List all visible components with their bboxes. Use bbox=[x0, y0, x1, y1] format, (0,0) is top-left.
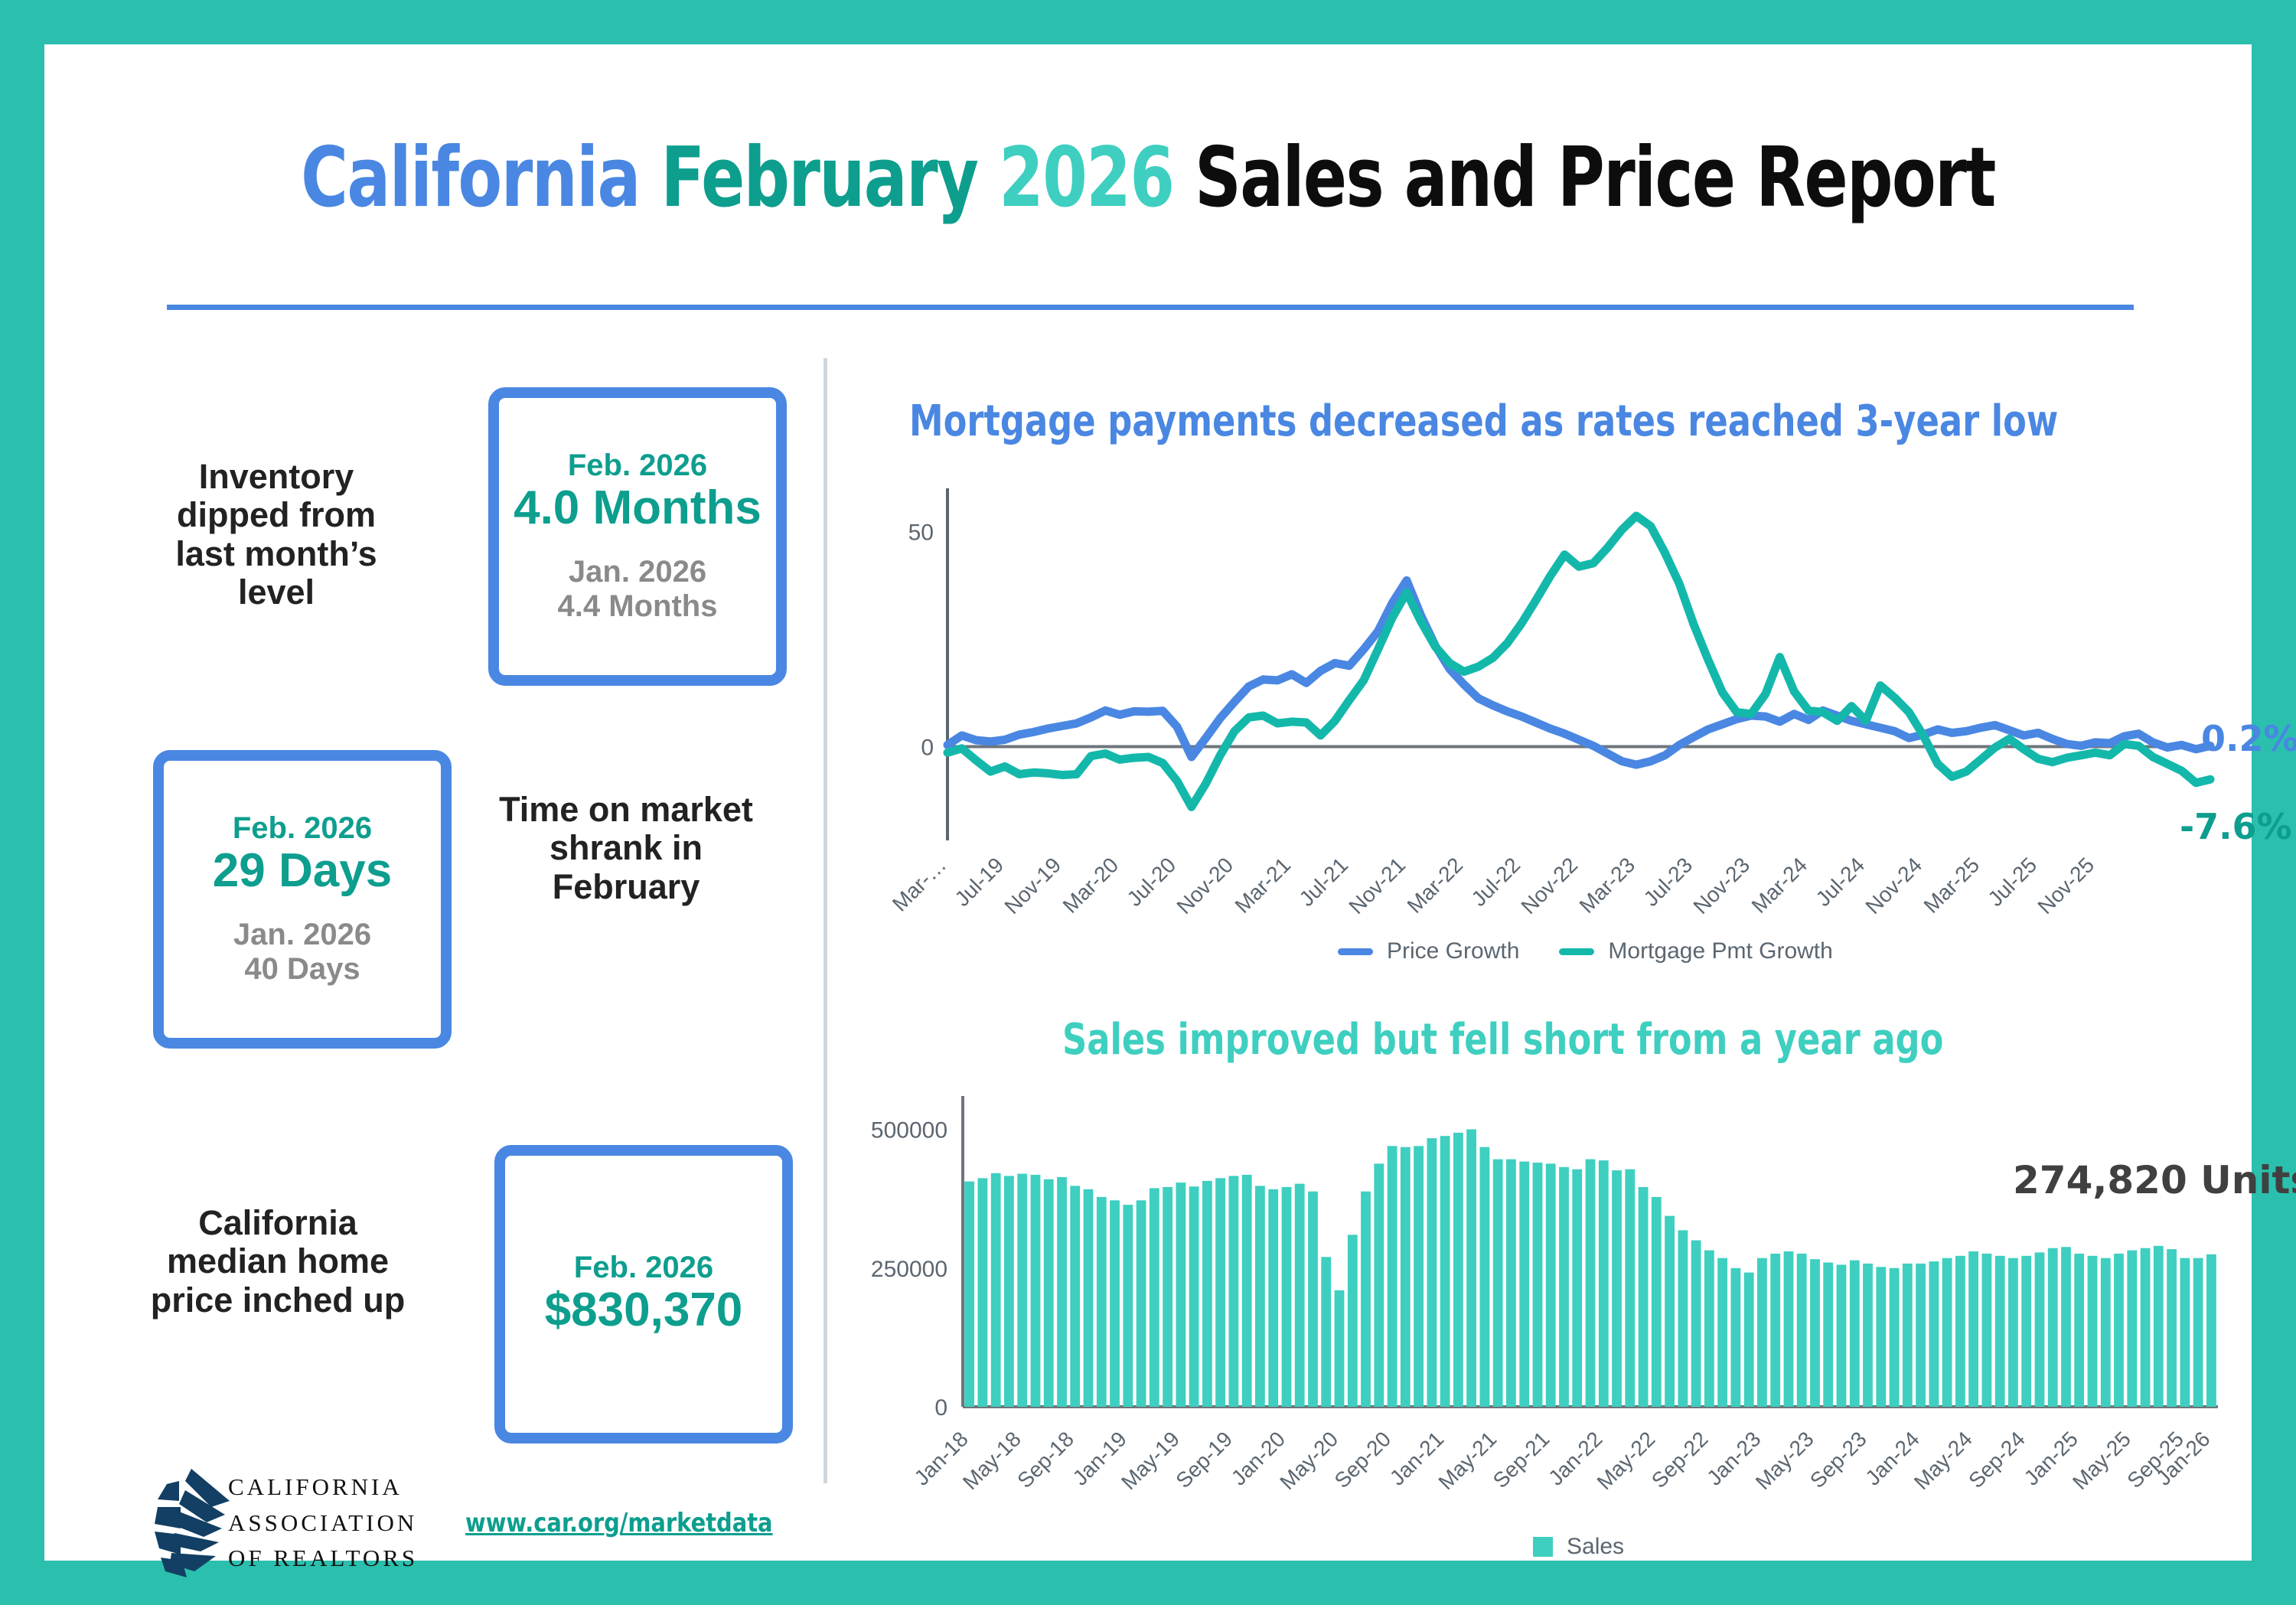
tom-previous: Jan. 2026 40 Days bbox=[233, 918, 371, 987]
sales-bar bbox=[1757, 1258, 1767, 1407]
sales-bar bbox=[1572, 1169, 1582, 1407]
sales-bar bbox=[1876, 1267, 1886, 1407]
mortgage-pmt-swatch-icon bbox=[1559, 948, 1594, 955]
sales-bar bbox=[1480, 1147, 1490, 1407]
sales-bar bbox=[1268, 1189, 1278, 1407]
bar-chart-xtick: May-20 bbox=[1275, 1427, 1342, 1494]
bar-chart-legend: Sales bbox=[1533, 1534, 1624, 1560]
line-series-mortgage-pmt-growth bbox=[947, 516, 2210, 807]
sales-bar bbox=[1982, 1254, 1992, 1407]
line-chart-legend: Price Growth Mortgage Pmt Growth bbox=[1338, 938, 1833, 964]
sales-bar-chart: 0250000500000Jan-18May-18Sep-18Jan-19May… bbox=[856, 1085, 2233, 1537]
sales-bar bbox=[1295, 1184, 1305, 1407]
time-on-market-blurb: Time on market shrank in February bbox=[496, 791, 756, 906]
sales-bar bbox=[1335, 1290, 1345, 1407]
title-california: California bbox=[301, 130, 660, 226]
tom-previous-label: Jan. 2026 bbox=[233, 918, 371, 951]
sales-bar bbox=[1704, 1251, 1714, 1407]
price-growth-end-label: 0.2% bbox=[2201, 718, 2296, 759]
sales-bar bbox=[1242, 1175, 1252, 1407]
title-year: 2026 bbox=[999, 130, 1195, 226]
sales-bar bbox=[2127, 1251, 2137, 1407]
bar-chart-xtick: Sep-21 bbox=[1489, 1427, 1554, 1492]
line-chart: 050Mar-…Jul-19Nov-19Mar-20Jul-20Nov-20Ma… bbox=[856, 473, 2233, 948]
sales-bar bbox=[1955, 1256, 1965, 1407]
header-divider bbox=[167, 305, 2134, 310]
bar-chart-xtick: Sep-19 bbox=[1171, 1427, 1237, 1492]
sales-bar bbox=[1797, 1254, 1807, 1407]
sales-bar bbox=[1202, 1181, 1212, 1407]
sales-bar bbox=[1599, 1160, 1609, 1407]
sales-bar bbox=[1691, 1241, 1701, 1408]
legend-label-sales[interactable]: Sales bbox=[1567, 1534, 1624, 1560]
logo-line-3: OF REALTORS bbox=[228, 1541, 418, 1577]
sales-bar bbox=[1810, 1259, 1820, 1407]
line-chart-title: Mortgage payments decreased as rates rea… bbox=[909, 396, 2058, 446]
line-chart-xtick: Nov-22 bbox=[1516, 853, 1582, 918]
sales-bar bbox=[1639, 1187, 1649, 1407]
sales-bar bbox=[2101, 1258, 2111, 1407]
sales-bar bbox=[1652, 1197, 1662, 1407]
line-chart-xtick: Nov-23 bbox=[1688, 853, 1754, 918]
poster-canvas: California February 2026 Sales and Price… bbox=[44, 44, 2252, 1561]
sales-bar bbox=[1717, 1258, 1727, 1407]
sales-bar bbox=[1744, 1273, 1754, 1407]
sales-bar bbox=[2008, 1258, 2018, 1407]
line-chart-xtick: Nov-20 bbox=[1172, 853, 1238, 918]
sales-bar bbox=[1731, 1268, 1741, 1407]
sales-bar bbox=[1968, 1251, 1978, 1407]
sales-bar bbox=[2035, 1252, 2045, 1407]
line-chart-ytick: 0 bbox=[921, 736, 934, 761]
sales-bar bbox=[1255, 1186, 1265, 1407]
inventory-blurb: Inventory dipped from last month’s level bbox=[142, 458, 410, 612]
sales-bar bbox=[1559, 1167, 1569, 1407]
line-chart-xtick: Mar-… bbox=[888, 853, 951, 915]
sales-bar bbox=[1215, 1178, 1225, 1407]
sales-bar bbox=[964, 1182, 974, 1407]
sales-bar bbox=[1784, 1251, 1794, 1407]
line-chart-xtick: Mar-22 bbox=[1403, 853, 1468, 918]
bar-chart-ytick: 250000 bbox=[871, 1257, 947, 1282]
mortgage-pmt-end-label: -7.6% bbox=[2180, 806, 2292, 847]
sales-bar bbox=[2021, 1256, 2031, 1407]
bar-chart-xtick: May-23 bbox=[1751, 1427, 1818, 1494]
bar-chart-xtick: May-19 bbox=[1117, 1427, 1184, 1494]
bar-chart-xtick: Sep-18 bbox=[1013, 1427, 1078, 1492]
sales-bar bbox=[2074, 1254, 2084, 1407]
tom-current-value: 29 Days bbox=[213, 844, 392, 897]
sales-bar bbox=[2048, 1248, 2058, 1407]
sales-bar bbox=[2088, 1256, 2098, 1407]
sales-bar bbox=[1388, 1146, 1397, 1407]
inventory-current-value: 4.0 Months bbox=[514, 481, 762, 534]
sales-units-annotation: 274,820 Units bbox=[2013, 1158, 2296, 1202]
sales-bar bbox=[1031, 1175, 1041, 1407]
sales-bar bbox=[1995, 1256, 2005, 1407]
tom-current-label: Feb. 2026 bbox=[233, 812, 372, 844]
bar-chart-ytick: 0 bbox=[934, 1395, 947, 1421]
line-chart-xtick: Nov-24 bbox=[1861, 853, 1926, 918]
line-chart-xtick: Nov-21 bbox=[1344, 853, 1410, 918]
line-chart-xtick: Nov-25 bbox=[2033, 853, 2099, 918]
sales-bar bbox=[1942, 1258, 1952, 1407]
legend-label-price-growth[interactable]: Price Growth bbox=[1387, 938, 1519, 964]
sales-bar bbox=[1837, 1264, 1847, 1407]
sales-bar bbox=[1440, 1136, 1450, 1407]
sales-bar bbox=[1678, 1230, 1688, 1407]
sales-bar bbox=[1466, 1130, 1476, 1408]
inventory-current-label: Feb. 2026 bbox=[568, 449, 707, 481]
median-price-blurb: California median home price inched up bbox=[136, 1204, 419, 1320]
sales-bar bbox=[1361, 1192, 1371, 1407]
sales-bar bbox=[1321, 1257, 1331, 1407]
line-chart-xtick: Mar-20 bbox=[1058, 853, 1124, 918]
sales-bar bbox=[1850, 1261, 1860, 1407]
bar-chart-xtick: May-25 bbox=[2068, 1427, 2135, 1494]
line-chart-xtick: Nov-19 bbox=[1000, 853, 1065, 918]
sales-bar bbox=[1017, 1174, 1027, 1408]
price-growth-swatch-icon bbox=[1338, 948, 1373, 955]
median-price-current-value: $830,370 bbox=[545, 1284, 743, 1336]
sales-bar bbox=[1453, 1133, 1463, 1407]
column-divider bbox=[823, 358, 827, 1483]
sales-bar bbox=[1823, 1263, 1833, 1408]
bar-chart-xtick: Sep-23 bbox=[1805, 1427, 1871, 1492]
median-price-stat-box: Feb. 2026 $830,370 bbox=[494, 1145, 793, 1444]
inventory-stat-box: Feb. 2026 4.0 Months Jan. 2026 4.4 Month… bbox=[488, 387, 787, 686]
line-chart-xtick: Mar-23 bbox=[1575, 853, 1640, 918]
logo-line-2: ASSOCIATION bbox=[228, 1506, 418, 1541]
sales-bar bbox=[2193, 1258, 2203, 1407]
logo-line-1: CALIFORNIA bbox=[228, 1470, 418, 1506]
sales-bar bbox=[1123, 1205, 1133, 1407]
bar-chart-xtick: May-22 bbox=[1593, 1427, 1660, 1494]
sales-bar bbox=[2154, 1246, 2164, 1407]
sales-bar bbox=[2206, 1254, 2216, 1407]
line-chart-xtick: Mar-24 bbox=[1747, 853, 1812, 918]
sales-bar bbox=[2061, 1247, 2071, 1407]
sales-bar bbox=[1150, 1188, 1159, 1407]
sales-bar bbox=[1863, 1264, 1873, 1407]
bar-chart-xtick: Sep-24 bbox=[1964, 1427, 2030, 1492]
sales-bar bbox=[1163, 1187, 1172, 1407]
sales-bar bbox=[2114, 1254, 2124, 1407]
median-price-current-label: Feb. 2026 bbox=[574, 1251, 713, 1284]
line-chart-xtick: Mar-25 bbox=[1919, 853, 1985, 918]
car-logo-text: CALIFORNIA ASSOCIATION OF REALTORS bbox=[228, 1470, 418, 1577]
sales-bar bbox=[1004, 1176, 1014, 1407]
sales-bar bbox=[1493, 1160, 1503, 1407]
sales-bar bbox=[1070, 1186, 1080, 1407]
sales-bar bbox=[1097, 1197, 1107, 1407]
bar-chart-xtick: Sep-20 bbox=[1330, 1427, 1396, 1492]
inventory-previous-value: 4.4 Months bbox=[558, 589, 718, 623]
sales-bar bbox=[1229, 1176, 1239, 1407]
sales-bar bbox=[1533, 1163, 1543, 1407]
sales-bar bbox=[1137, 1200, 1146, 1407]
sales-bar bbox=[1770, 1254, 1780, 1407]
time-on-market-stat-box: Feb. 2026 29 Days Jan. 2026 40 Days bbox=[153, 750, 452, 1049]
marketdata-url-link[interactable]: www.car.org/marketdata bbox=[465, 1508, 773, 1538]
line-chart-xtick: Mar-21 bbox=[1231, 853, 1296, 918]
sales-bar bbox=[991, 1173, 1001, 1407]
sales-swatch-icon bbox=[1533, 1537, 1553, 1557]
sales-bar bbox=[1084, 1189, 1094, 1407]
sales-bar bbox=[1506, 1160, 1516, 1407]
sales-bar bbox=[1044, 1179, 1054, 1407]
sales-bar bbox=[2141, 1248, 2151, 1407]
bar-chart-xtick: May-21 bbox=[1433, 1427, 1501, 1494]
sales-bar bbox=[1348, 1235, 1358, 1407]
line-chart-ytick: 50 bbox=[908, 520, 934, 545]
inventory-previous-label: Jan. 2026 bbox=[569, 555, 706, 589]
sales-bar bbox=[2180, 1258, 2190, 1407]
sales-bar bbox=[1903, 1264, 1913, 1407]
sales-bar bbox=[1665, 1216, 1675, 1407]
sales-bar bbox=[1929, 1261, 1939, 1407]
tom-previous-value: 40 Days bbox=[244, 952, 360, 986]
bar-chart-xtick: May-18 bbox=[958, 1427, 1026, 1494]
sales-bar bbox=[978, 1178, 988, 1407]
sales-bar bbox=[1890, 1268, 1900, 1407]
bar-chart-xtick: Sep-22 bbox=[1647, 1427, 1713, 1492]
sales-bar bbox=[1519, 1162, 1529, 1407]
sales-bar bbox=[2167, 1249, 2177, 1407]
sales-bar bbox=[1586, 1160, 1596, 1407]
sales-bar bbox=[1546, 1163, 1556, 1407]
page-title: California February 2026 Sales and Price… bbox=[287, 130, 2009, 226]
bar-chart-xtick: May-24 bbox=[1910, 1427, 1977, 1494]
sales-bar bbox=[1916, 1264, 1926, 1407]
sales-bar bbox=[1189, 1186, 1199, 1407]
sales-bar bbox=[1625, 1169, 1635, 1407]
line-series-price-growth bbox=[947, 580, 2210, 765]
sales-bar bbox=[1057, 1177, 1067, 1407]
legend-label-mortgage-pmt[interactable]: Mortgage Pmt Growth bbox=[1608, 938, 1832, 964]
title-month: February bbox=[661, 130, 1000, 226]
sales-bar bbox=[1612, 1170, 1622, 1407]
sales-bar bbox=[1414, 1146, 1424, 1407]
sales-bar bbox=[1308, 1192, 1318, 1407]
sales-bar bbox=[1176, 1183, 1186, 1407]
sales-bar bbox=[1110, 1200, 1120, 1407]
title-suffix: Sales and Price Report bbox=[1195, 130, 1995, 226]
bar-chart-ytick: 500000 bbox=[871, 1118, 947, 1143]
bar-chart-title: Sales improved but fell short from a yea… bbox=[1062, 1015, 1943, 1065]
sales-bar bbox=[1282, 1187, 1292, 1407]
sales-bar bbox=[1401, 1147, 1411, 1407]
inventory-previous: Jan. 2026 4.4 Months bbox=[558, 555, 718, 624]
sales-bar bbox=[1374, 1163, 1384, 1407]
sales-bar bbox=[1427, 1138, 1437, 1407]
